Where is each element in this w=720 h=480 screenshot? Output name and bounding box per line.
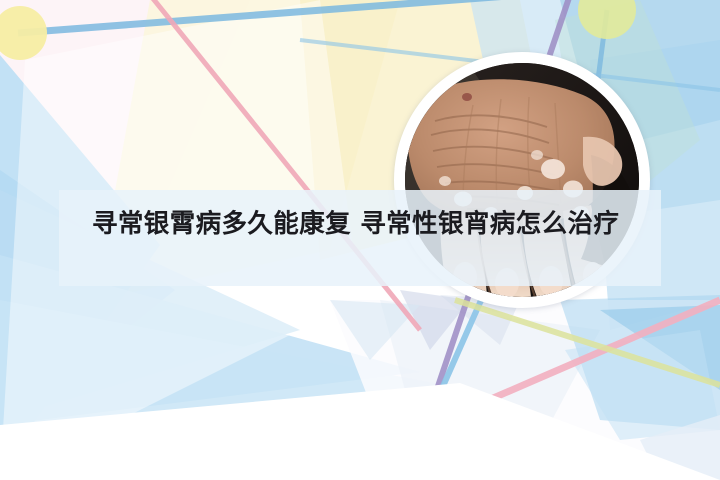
page-title: 寻常银霄病多久能康复 寻常性银宵病怎么治疗 <box>92 207 648 241</box>
poster-canvas: 寻常银霄病多久能康复 寻常性银宵病怎么治疗 <box>0 0 720 480</box>
